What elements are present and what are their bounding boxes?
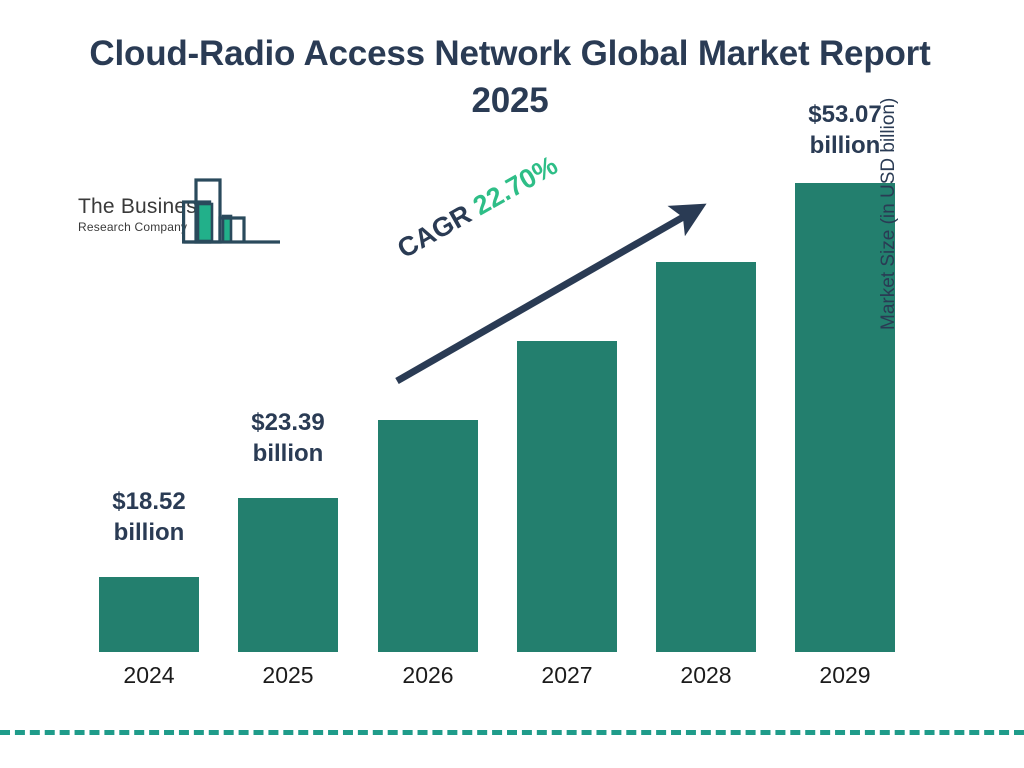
bar-value-2025: $23.39 billion <box>223 408 353 469</box>
x-tick-2028: 2028 <box>656 662 756 689</box>
chart-page: Cloud-Radio Access Network Global Market… <box>0 0 1024 768</box>
footer-divider <box>0 730 1024 735</box>
bar-chart-plot: $18.52 billion $23.39 billion $53.07 bil… <box>0 0 1024 768</box>
x-tick-2027: 2027 <box>517 662 617 689</box>
x-tick-2029: 2029 <box>795 662 895 689</box>
x-tick-2025: 2025 <box>238 662 338 689</box>
x-tick-2026: 2026 <box>378 662 478 689</box>
bar-2024 <box>99 577 199 652</box>
bar-2025 <box>238 498 338 652</box>
bar-2026 <box>378 420 478 652</box>
bar-value-2024: $18.52 billion <box>84 487 214 548</box>
x-tick-2024: 2024 <box>99 662 199 689</box>
y-axis-title: Market Size (in USD billion) <box>878 10 900 330</box>
